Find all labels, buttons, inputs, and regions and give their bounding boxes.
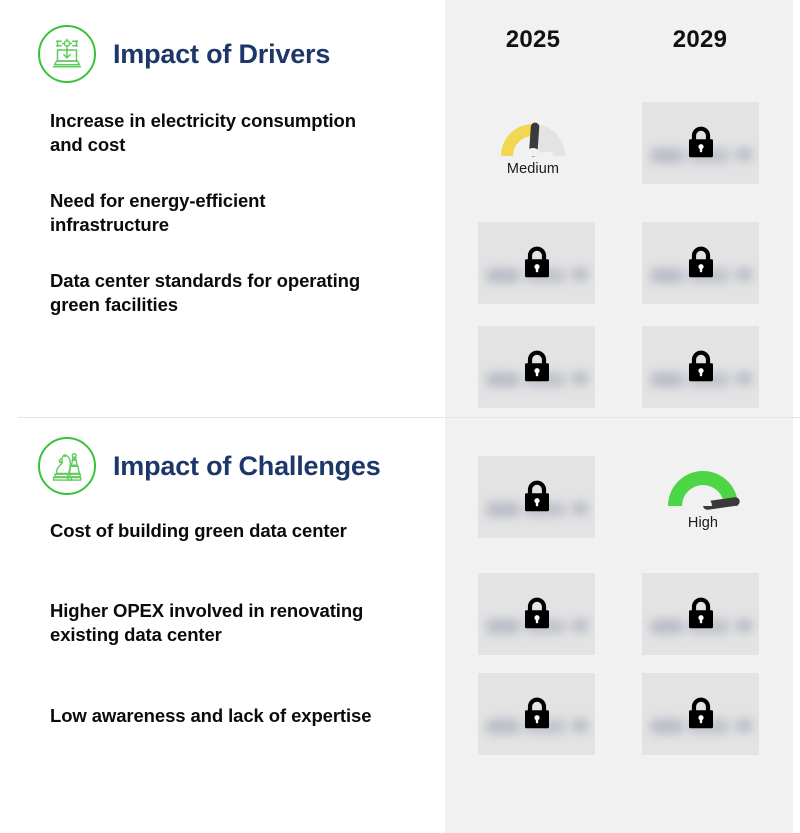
locked-cell-challenges-1-2025[interactable]	[478, 573, 595, 655]
locked-cell-drivers-2-2029[interactable]	[642, 326, 759, 408]
blur-streak	[650, 372, 684, 387]
blur-streak	[571, 268, 589, 281]
blur-streak	[486, 719, 520, 734]
gauge-label-challenges-0-2029: High	[643, 515, 763, 531]
blur-streak	[650, 719, 684, 734]
blur-streak	[571, 372, 589, 385]
blur-streak	[571, 502, 589, 515]
lock-icon	[520, 693, 554, 733]
section-title-challenges: Impact of Challenges	[113, 451, 381, 482]
blur-streak	[735, 719, 753, 732]
gauge-drivers-0-2025[interactable]: Medium	[473, 112, 593, 194]
lock-icon	[520, 346, 554, 386]
lock-icon	[520, 593, 554, 633]
blur-streak	[571, 719, 589, 732]
blur-streak	[650, 268, 684, 283]
blur-streak	[486, 619, 520, 634]
impact-matrix-page: 2025 2029	[0, 0, 800, 833]
section-header-challenges: Impact of Challenges	[38, 437, 381, 495]
locked-cell-challenges-1-2029[interactable]	[642, 573, 759, 655]
locked-cell-drivers-2-2025[interactable]	[478, 326, 595, 408]
blur-streak	[735, 268, 753, 281]
chess-knight-pawn-icon	[38, 437, 96, 495]
lock-icon	[520, 476, 554, 516]
row-label-challenges-2: Low awareness and lack of expertise	[50, 704, 380, 728]
gauge-challenges-0-2029[interactable]: High	[643, 460, 763, 542]
row-label-drivers-0: Increase in electricity consumption and …	[50, 109, 380, 157]
lock-icon	[684, 593, 718, 633]
locked-cell-drivers-1-2029[interactable]	[642, 222, 759, 304]
lock-icon	[684, 122, 718, 162]
lock-icon	[684, 242, 718, 282]
blur-streak	[735, 619, 753, 632]
row-label-challenges-0: Cost of building green data center	[50, 519, 380, 543]
row-label-drivers-2: Data center standards for operating gree…	[50, 269, 380, 317]
row-label-drivers-1: Need for energy-efficient infrastructure	[50, 189, 380, 237]
column-header-2025: 2025	[473, 26, 593, 54]
blur-streak	[486, 502, 520, 517]
lock-icon	[684, 693, 718, 733]
section-divider	[18, 417, 800, 418]
blur-streak	[486, 372, 520, 387]
lock-icon	[684, 346, 718, 386]
locked-cell-challenges-0-2025[interactable]	[478, 456, 595, 538]
locked-cell-drivers-0-2029[interactable]	[642, 102, 759, 184]
section-header-drivers: Impact of Drivers	[38, 25, 330, 83]
blur-streak	[486, 268, 520, 283]
lock-icon	[520, 242, 554, 282]
laptop-download-gear-icon	[38, 25, 96, 83]
blur-streak	[650, 148, 684, 163]
blur-streak	[650, 619, 684, 634]
section-title-drivers: Impact of Drivers	[113, 39, 330, 70]
row-label-challenges-1: Higher OPEX involved in renovating exist…	[50, 599, 380, 647]
blur-streak	[571, 619, 589, 632]
blur-streak	[735, 148, 753, 161]
column-header-2029: 2029	[640, 26, 760, 54]
locked-cell-challenges-2-2029[interactable]	[642, 673, 759, 755]
gauge-label-drivers-0-2025: Medium	[473, 161, 593, 177]
locked-cell-challenges-2-2025[interactable]	[478, 673, 595, 755]
locked-cell-drivers-1-2025[interactable]	[478, 222, 595, 304]
blur-streak	[735, 372, 753, 385]
